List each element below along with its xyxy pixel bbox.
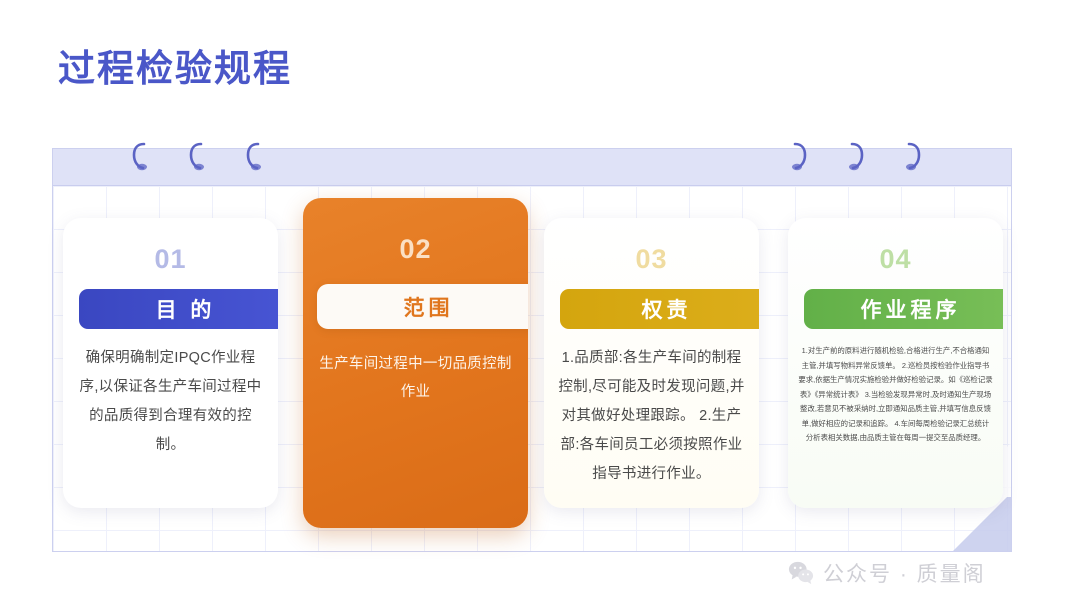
card-banner: 权责 [560,289,759,329]
card-body-text: 1.品质部:各生产车间的制程控制,尽可能及时发现问题,并对其做好处理跟踪。 2.… [558,344,745,489]
card-body-text: 确保明确制定IPQC作业程序,以保证各生产车间过程中的品质得到合理有效的控制。 [77,344,264,460]
card-02-scope[interactable]: 02 范围 生产车间过程中一切品质控制作业 [303,198,528,528]
card-banner-label: 作业程序 [861,294,961,324]
wechat-icon [788,560,814,586]
card-banner-label: 范围 [404,292,454,322]
card-banner: 范围 [317,284,528,329]
card-banner: 目 的 [79,289,278,329]
card-number: 03 [544,244,759,275]
watermark: 公众号 · 质量阁 [788,558,986,588]
watermark-label: 公众号 · 质量阁 [823,558,986,588]
card-list: 01 目 的 确保明确制定IPQC作业程序,以保证各生产车间过程中的品质得到合理… [52,148,1012,552]
card-banner-label: 目 的 [156,294,216,324]
card-03-responsibility[interactable]: 03 权责 1.品质部:各生产车间的制程控制,尽可能及时发现问题,并对其做好处理… [544,218,759,508]
card-body-text: 生产车间过程中一切品质控制作业 [319,350,512,406]
card-number: 04 [788,244,1003,275]
card-number: 02 [303,234,528,265]
card-body-text: 1.对生产前的原料进行随机检验,合格进行生产,不合格通知主管,并填写物料异常反馈… [798,344,993,446]
card-number: 01 [63,244,278,275]
page-title: 过程检验规程 [58,38,292,92]
card-04-procedure[interactable]: 04 作业程序 1.对生产前的原料进行随机检验,合格进行生产,不合格通知主管,并… [788,218,1003,508]
card-banner-label: 权责 [642,294,692,324]
card-01-purpose[interactable]: 01 目 的 确保明确制定IPQC作业程序,以保证各生产车间过程中的品质得到合理… [63,218,278,508]
card-banner: 作业程序 [804,289,1003,329]
